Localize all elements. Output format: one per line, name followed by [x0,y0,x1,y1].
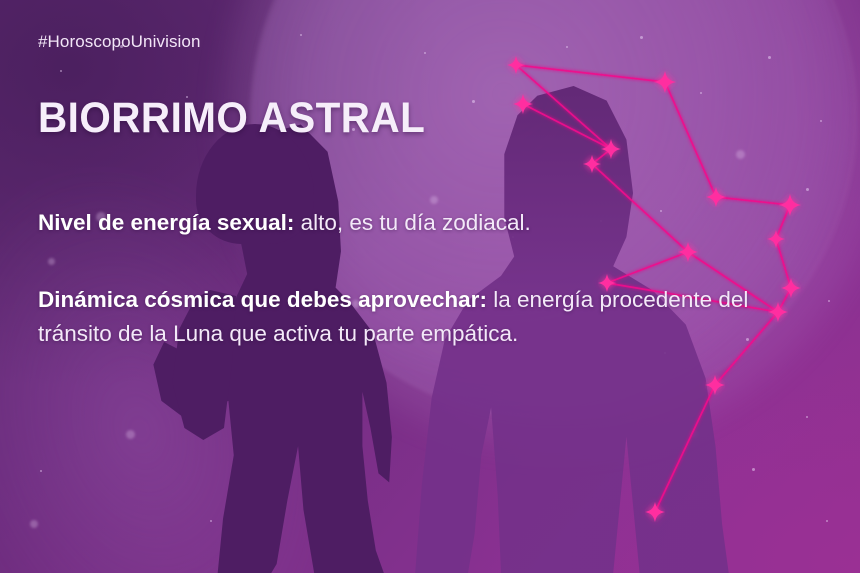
paragraph-cosmic-dynamic-label: Dinámica cósmica que debes aprovechar: [38,287,487,312]
text-content: #HoroscopoUnivision BIORRIMO ASTRAL Nive… [38,0,828,573]
hashtag-label: #HoroscopoUnivision [38,32,201,52]
paragraph-cosmic-dynamic: Dinámica cósmica que debes aprovechar: l… [38,283,798,351]
horoscope-card: #HoroscopoUnivision BIORRIMO ASTRAL Nive… [0,0,860,573]
paragraph-energy-level-text: alto, es tu día zodiacal. [294,210,530,235]
page-title: BIORRIMO ASTRAL [38,94,425,143]
paragraph-energy-level: Nivel de energía sexual: alto, es tu día… [38,206,798,240]
paragraph-energy-level-label: Nivel de energía sexual: [38,210,294,235]
